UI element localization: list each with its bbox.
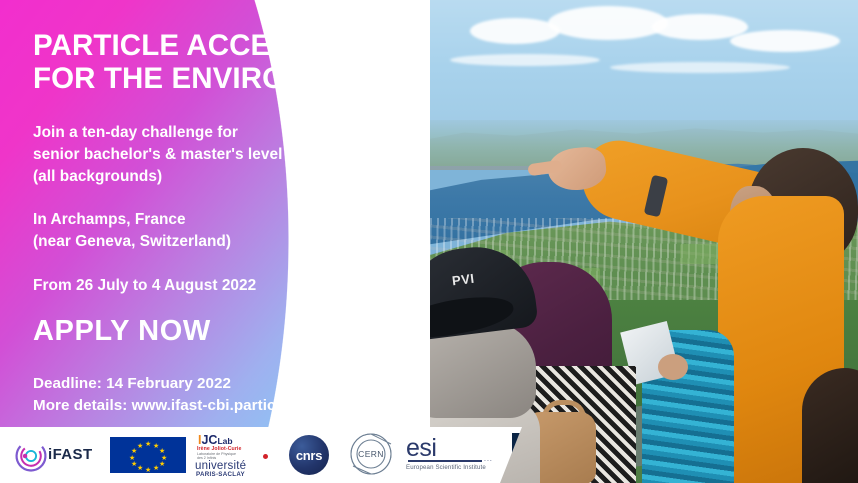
esi-dots: ... [484, 456, 493, 463]
cnrs-logo: cnrs [278, 432, 340, 478]
eu-flag-logo: ★ ★ ★ ★ ★ ★ ★ ★ ★ ★ ★ ★ [110, 437, 186, 473]
poster: PVI PARTICLE ACCELERATORS FOR THE ENVIRO… [0, 0, 858, 483]
paris-saclay-label: PARIS-SACLAY [196, 471, 245, 478]
person-dark-hair-right [802, 368, 858, 483]
hand-holding-paper [658, 354, 688, 380]
ijclab-paris-saclay-logo: IJCLab Irène Joliot-Curie Laboratoire de… [192, 432, 278, 478]
esi-wordmark: esi [406, 434, 436, 463]
ifast-orbit-icon [14, 439, 48, 473]
headline-line-1: PARTICLE ACCELERATORS [33, 29, 431, 62]
cloud [548, 6, 668, 40]
page-title: PARTICLE ACCELERATORS FOR THE ENVIRONMEN… [33, 29, 463, 95]
intro-text: Join a ten-day challenge for senior bach… [33, 122, 463, 188]
location-text: In Archamps, France (near Geneva, Switze… [33, 209, 463, 253]
cnrs-label: cnrs [296, 448, 322, 463]
cern-logo: CERN [340, 432, 402, 478]
ifast-logo: iFAST [8, 433, 104, 477]
apply-now-cta[interactable]: APPLY NOW [33, 315, 211, 348]
esi-subtitle: European Scientific Institute [406, 464, 486, 471]
ijclab-red-dot [263, 454, 268, 459]
dates-text: From 26 July to 4 August 2022 [33, 275, 463, 297]
svg-text:CERN: CERN [358, 449, 384, 459]
cnrs-circle: cnrs [289, 435, 329, 475]
cloud [730, 30, 840, 52]
ifast-logo-label: iFAST [48, 446, 93, 463]
ijclab-wordmark: IJCLab [198, 433, 233, 447]
deadline-and-details[interactable]: Deadline: 14 February 2022 More details:… [33, 373, 493, 416]
sponsor-logo-bar: iFAST ★ ★ ★ ★ ★ ★ ★ ★ ★ ★ ★ ★ IJCLab I [0, 427, 558, 483]
esi-logo: esi ... European Scientific Institute [402, 432, 506, 478]
headline-line-2: FOR THE ENVIRONMENT [33, 62, 463, 95]
cern-accelerator-icon: CERN [341, 432, 401, 478]
esi-underline [408, 460, 482, 462]
cloud [610, 62, 790, 73]
